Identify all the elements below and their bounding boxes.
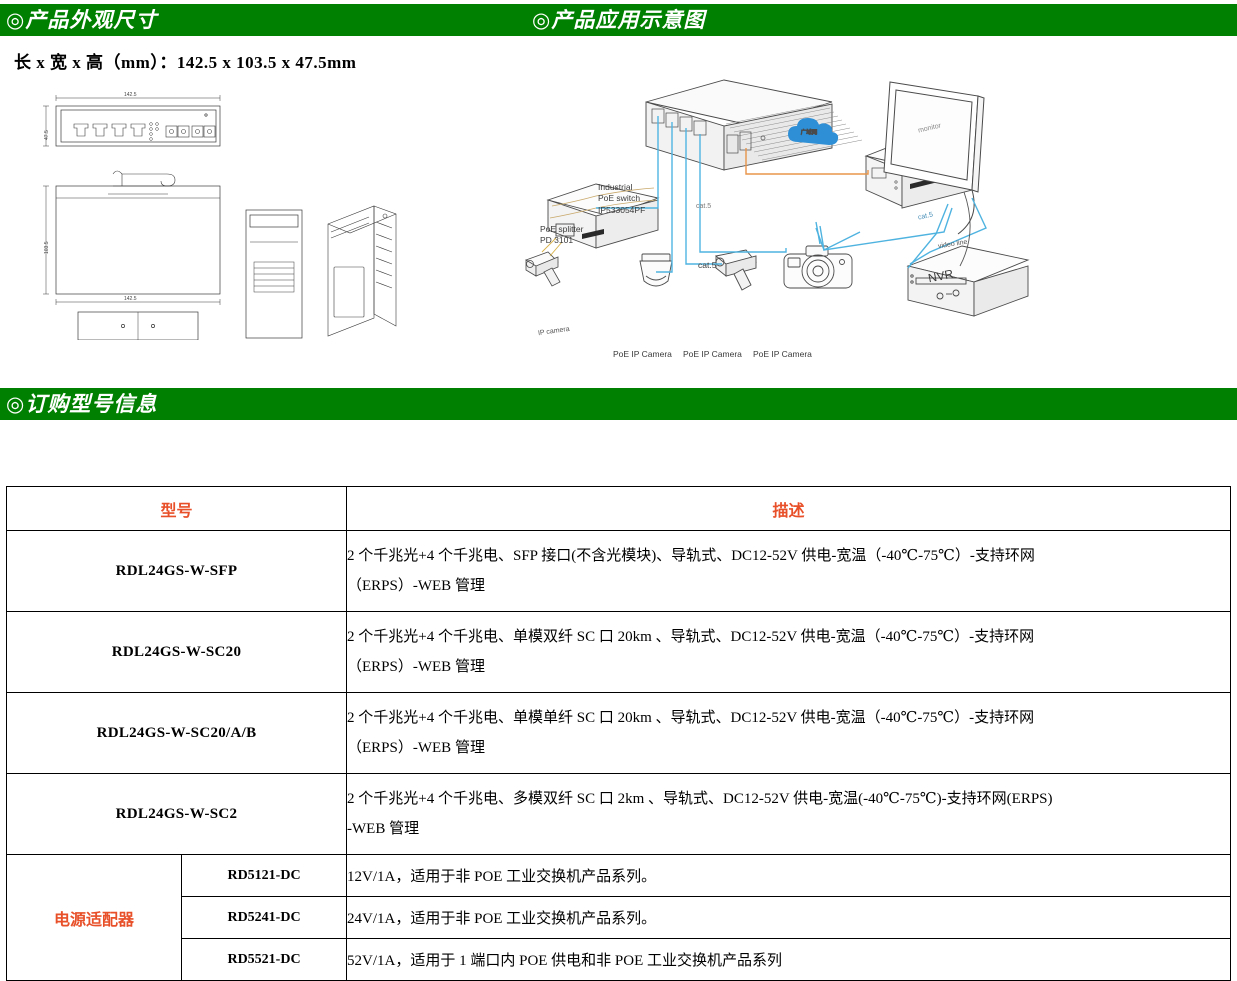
table-row: RDL24GS-W-SC2 2 个千兆光+4 个千兆电、多模双纤 SC 口 2k… xyxy=(7,774,1231,855)
adapter-description: 24V/1A，适用于非 POE 工业交换机产品系列。 xyxy=(347,897,1231,939)
model-name: RDL24GS-W-SC20/A/B xyxy=(7,693,347,774)
desc-line: 2 个千兆光+4 个千兆电、单模双纤 SC 口 20km 、导轨式、DC12-5… xyxy=(347,622,1230,652)
model-description: 2 个千兆光+4 个千兆电、多模双纤 SC 口 2km 、导轨式、DC12-52… xyxy=(347,774,1231,855)
desc-line: （ERPS）-WEB 管理 xyxy=(347,733,1230,763)
dimension-text: 长 x 宽 x 高（mm）：142.5 x 103.5 x 47.5mm xyxy=(14,48,356,73)
table-header-row: 型号 描述 xyxy=(7,487,1231,531)
section-title-ordering: ◎订购型号信息 xyxy=(6,388,157,420)
application-diagram: 广域网 xyxy=(520,72,1220,372)
label-poe-ip-camera-1: PoE IP Camera xyxy=(613,349,672,360)
adapter-model: RD5521-DC xyxy=(182,939,347,981)
table-row-adapter: RD5521-DC 52V/1A，适用于 1 端口内 POE 供电和非 POE … xyxy=(7,939,1231,981)
model-description: 2 个千兆光+4 个千兆电、SFP 接口(不含光模块)、导轨式、DC12-52V… xyxy=(347,531,1231,612)
label-poe-ip-camera-3: PoE IP Camera xyxy=(753,349,812,360)
drawing-label-width-bottom: 142.5 xyxy=(124,296,137,302)
adapter-description: 12V/1A，适用于非 POE 工业交换机产品系列。 xyxy=(347,855,1231,897)
section-header-bar-ordering xyxy=(0,388,1237,420)
desc-line: 2 个千兆光+4 个千兆电、单模单纤 SC 口 20km 、导轨式、DC12-5… xyxy=(347,703,1230,733)
application-diagram-svg: 广域网 xyxy=(520,72,1220,372)
model-name: RDL24GS-W-SC20 xyxy=(7,612,347,693)
drawing-label-width: 142.5 xyxy=(124,92,137,98)
model-name: RDL24GS-W-SC2 xyxy=(7,774,347,855)
desc-line: （ERPS）-WEB 管理 xyxy=(347,652,1230,682)
adapter-description: 52V/1A，适用于 1 端口内 POE 供电和非 POE 工业交换机产品系列 xyxy=(347,939,1231,981)
table-row: RDL24GS-W-SC20/A/B 2 个千兆光+4 个千兆电、单模单纤 SC… xyxy=(7,693,1231,774)
adapter-model: RD5121-DC xyxy=(182,855,347,897)
table-row: RDL24GS-W-SC20 2 个千兆光+4 个千兆电、单模双纤 SC 口 2… xyxy=(7,612,1231,693)
section-title-dimensions: ◎产品外观尺寸 xyxy=(6,4,157,36)
table-row: RDL24GS-W-SFP 2 个千兆光+4 个千兆电、SFP 接口(不含光模块… xyxy=(7,531,1231,612)
model-description: 2 个千兆光+4 个千兆电、单模双纤 SC 口 20km 、导轨式、DC12-5… xyxy=(347,612,1231,693)
svg-text:广域网: 广域网 xyxy=(801,128,818,136)
product-dimension-drawing: 142.5 47.5 103.5 142.5 xyxy=(18,82,498,340)
label-industrial-switch: Industrial PoE switch IP533054PF xyxy=(598,182,645,216)
table-row-adapter: RD5241-DC 24V/1A，适用于非 POE 工业交换机产品系列。 xyxy=(7,897,1231,939)
desc-line: 2 个千兆光+4 个千兆电、多模双纤 SC 口 2km 、导轨式、DC12-52… xyxy=(347,784,1230,814)
adapter-model: RD5241-DC xyxy=(182,897,347,939)
desc-line: -WEB 管理 xyxy=(347,814,1230,844)
table-row-adapter: 电源适配器 RD5121-DC 12V/1A，适用于非 POE 工业交换机产品系… xyxy=(7,855,1231,897)
drawing-label-height: 47.5 xyxy=(44,130,50,140)
dimension-drawing-svg xyxy=(18,82,498,340)
label-poe-ip-camera-2: PoE IP Camera xyxy=(683,349,742,360)
column-header-model: 型号 xyxy=(7,487,347,531)
desc-line: 2 个千兆光+4 个千兆电、SFP 接口(不含光模块)、导轨式、DC12-52V… xyxy=(347,541,1230,571)
label-poe-splitter: PoE splitter PD 3101 xyxy=(540,224,583,247)
label-cat5-lower: cat.5 xyxy=(698,260,716,271)
label-cat5-upper: cat.5 xyxy=(696,202,711,211)
ordering-table: 型号 描述 RDL24GS-W-SFP 2 个千兆光+4 个千兆电、SFP 接口… xyxy=(6,486,1231,981)
section-title-application: ◎产品应用示意图 xyxy=(532,4,705,36)
drawing-label-depth: 103.5 xyxy=(44,241,50,254)
column-header-description: 描述 xyxy=(347,487,1231,531)
desc-line: （ERPS）-WEB 管理 xyxy=(347,571,1230,601)
model-name: RDL24GS-W-SFP xyxy=(7,531,347,612)
model-description: 2 个千兆光+4 个千兆电、单模单纤 SC 口 20km 、导轨式、DC12-5… xyxy=(347,693,1231,774)
adapter-group-label: 电源适配器 xyxy=(7,855,182,981)
